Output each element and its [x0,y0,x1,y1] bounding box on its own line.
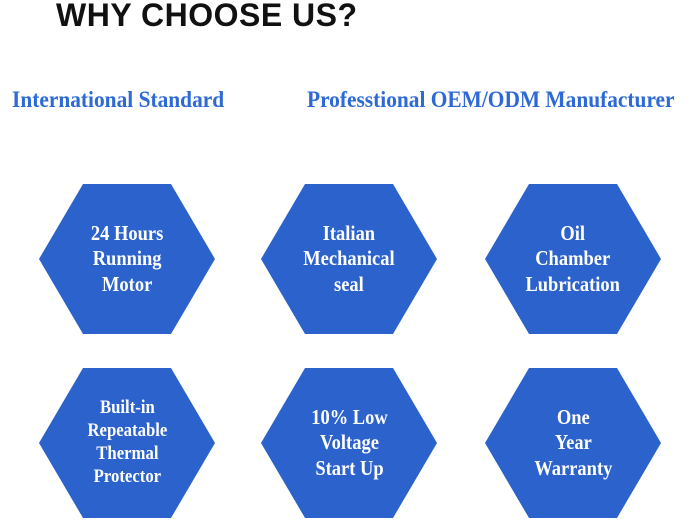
feature-hexagon-grid: 24 Hours Running Motor Italian Mechanica… [0,0,700,528]
feature-label: Italian Mechanical seal [300,221,398,298]
feature-label: One Year Warranty [530,405,615,482]
feature-label: 10% Low Voltage Start Up [307,405,391,482]
feature-hexagon-one-year-warranty: One Year Warranty [485,368,661,518]
feature-hexagon-10-percent-low-voltage-start-up: 10% Low Voltage Start Up [261,368,437,518]
feature-label: Oil Chamber Lubrication [522,221,624,298]
why-choose-us-slide: WHY CHOOSE US? International Standard Pr… [0,0,700,528]
feature-hexagon-italian-mechanical-seal: Italian Mechanical seal [261,184,437,334]
feature-label: Built-in Repeatable Thermal Protector [84,397,171,488]
feature-label: 24 Hours Running Motor [87,221,166,298]
feature-hexagon-oil-chamber-lubrication: Oil Chamber Lubrication [485,184,661,334]
feature-hexagon-built-in-repeatable-thermal-protector: Built-in Repeatable Thermal Protector [39,368,215,518]
feature-hexagon-24-hours-running-motor: 24 Hours Running Motor [39,184,215,334]
